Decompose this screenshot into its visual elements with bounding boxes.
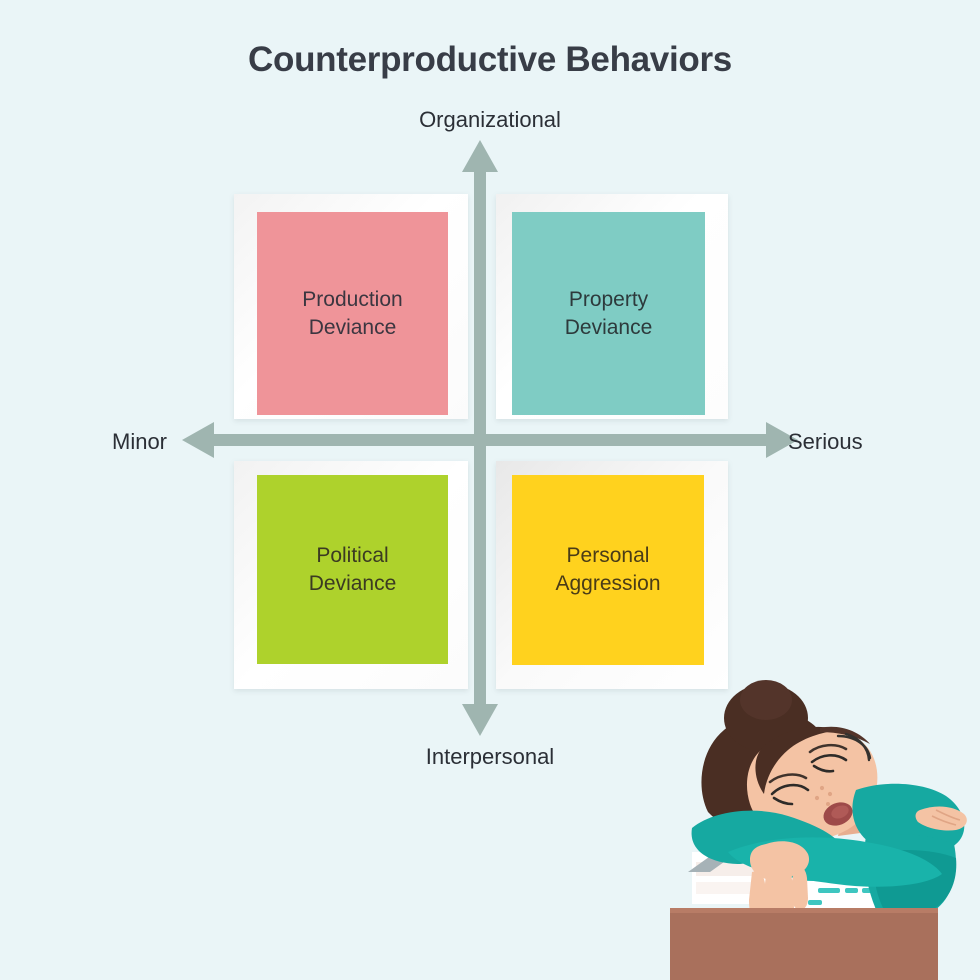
axis-label-organizational: Organizational: [0, 107, 980, 133]
quadrant-label-line2: Deviance: [565, 316, 653, 339]
axis-shaft-horizontal: [210, 434, 772, 446]
arrow-down-icon: [462, 704, 498, 736]
axis-label-minor: Minor: [112, 429, 167, 455]
quadrant-label: Personal Aggression: [555, 542, 660, 597]
quadrant-label-line1: Property: [569, 288, 648, 311]
page-title: Counterproductive Behaviors: [0, 40, 980, 80]
quadrant-label: Political Deviance: [309, 542, 397, 597]
quadrant-label-line2: Aggression: [555, 572, 660, 595]
quadrant-label-line1: Political: [316, 544, 388, 567]
quadrant-political-deviance[interactable]: Political Deviance: [257, 475, 448, 664]
arrow-up-icon: [462, 140, 498, 172]
quadrant-label-line1: Personal: [567, 544, 650, 567]
quadrant-personal-aggression[interactable]: Personal Aggression: [512, 475, 704, 665]
quadrant-label-line2: Deviance: [309, 572, 397, 595]
quadrant-label-line1: Production: [302, 288, 402, 311]
quadrant-label-line2: Deviance: [309, 316, 397, 339]
axis-label-serious: Serious: [788, 429, 863, 455]
quadrant-production-deviance[interactable]: Production Deviance: [257, 212, 448, 415]
quadrant-label: Production Deviance: [302, 286, 402, 341]
desk: [670, 908, 938, 980]
quadrant-label: Property Deviance: [565, 286, 653, 341]
sleeping-woman-at-desk-illustration: [670, 676, 980, 980]
quadrant-property-deviance[interactable]: Property Deviance: [512, 212, 705, 415]
arrow-left-icon: [182, 422, 214, 458]
diagram-canvas: Counterproductive Behaviors Organization…: [0, 0, 980, 980]
horizontal-axis-arrow: [180, 415, 800, 465]
